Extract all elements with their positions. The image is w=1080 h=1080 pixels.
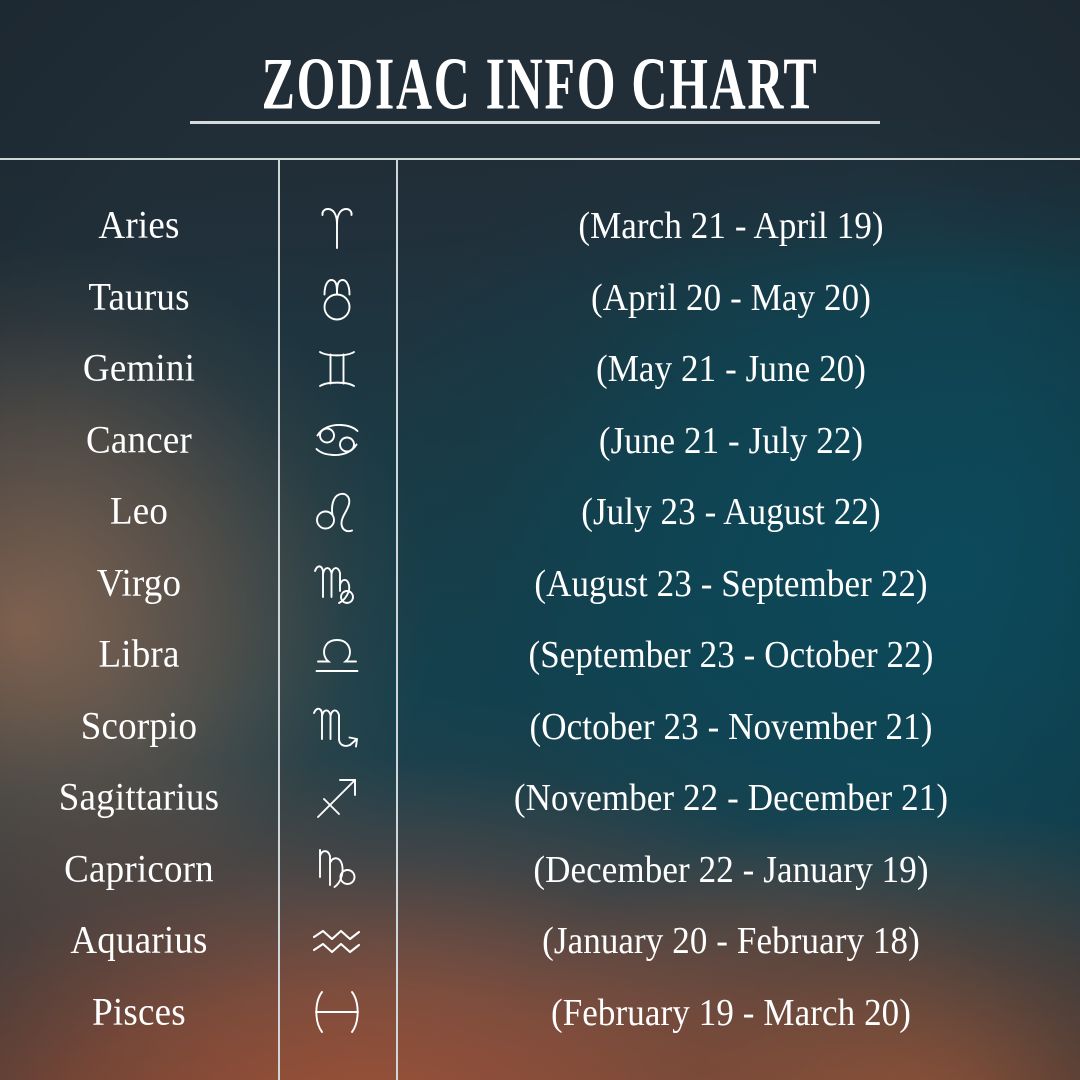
table-vertical-divider-left <box>278 160 280 1080</box>
table-top-divider <box>0 158 1080 160</box>
table-vertical-divider-right <box>396 160 398 1080</box>
zodiac-sign-name: Scorpio <box>0 707 278 746</box>
zodiac-info-chart-poster: ZODIAC INFO CHART Aries (March 21 - Apri… <box>0 0 1080 1080</box>
zodiac-date-range: (November 22 - December 21) <box>396 779 1080 818</box>
zodiac-sign-name: Aquarius <box>0 921 278 960</box>
virgo-symbol <box>278 555 396 611</box>
zodiac-date-range: (April 20 - May 20) <box>396 278 1080 317</box>
table-row: Pisces (February 19 - March 20) <box>0 977 1080 1049</box>
table-row: Aries (March 21 - April 19) <box>0 190 1080 262</box>
table-row: Aquarius (January 20 - February 18) <box>0 905 1080 977</box>
table-row: Leo (July 23 - August 22) <box>0 476 1080 548</box>
title-underline-rule <box>190 121 880 124</box>
taurus-symbol <box>278 269 396 325</box>
table-row: Sagittarius (November 22 - December 21) <box>0 762 1080 834</box>
page-title: ZODIAC INFO CHART <box>76 47 1005 121</box>
zodiac-date-range: (February 19 - March 20) <box>396 993 1080 1032</box>
zodiac-sign-name: Virgo <box>0 564 278 603</box>
table-row: Virgo (August 23 - September 22) <box>0 548 1080 620</box>
zodiac-sign-name: Capricorn <box>0 850 278 889</box>
pisces-symbol <box>278 984 396 1040</box>
zodiac-date-range: (July 23 - August 22) <box>396 493 1080 532</box>
zodiac-date-range: (August 23 - September 22) <box>396 564 1080 603</box>
aquarius-symbol <box>278 913 396 969</box>
table-row: Scorpio (October 23 - November 21) <box>0 691 1080 763</box>
cancer-symbol <box>278 412 396 468</box>
zodiac-sign-name: Leo <box>0 492 278 531</box>
zodiac-sign-name: Taurus <box>0 278 278 317</box>
table-row: Capricorn (December 22 - January 19) <box>0 834 1080 906</box>
zodiac-sign-name: Sagittarius <box>0 778 278 817</box>
zodiac-table: Aries (March 21 - April 19) Taurus (Apri… <box>0 160 1080 1080</box>
zodiac-date-range: (September 23 - October 22) <box>396 636 1080 675</box>
zodiac-date-range: (March 21 - April 19) <box>396 207 1080 246</box>
table-row: Taurus (April 20 - May 20) <box>0 262 1080 334</box>
table-row: Libra (September 23 - October 22) <box>0 619 1080 691</box>
zodiac-sign-name: Libra <box>0 635 278 674</box>
table-row: Cancer (June 21 - July 22) <box>0 405 1080 477</box>
scorpio-symbol <box>278 698 396 754</box>
sagittarius-symbol <box>278 770 396 826</box>
zodiac-sign-name: Pisces <box>0 993 278 1032</box>
zodiac-sign-name: Cancer <box>0 421 278 460</box>
poster-header: ZODIAC INFO CHART <box>0 0 1080 158</box>
zodiac-sign-name: Gemini <box>0 349 278 388</box>
zodiac-date-range: (May 21 - June 20) <box>396 350 1080 389</box>
table-row: Gemini (May 21 - June 20) <box>0 333 1080 405</box>
libra-symbol <box>278 627 396 683</box>
leo-symbol <box>278 484 396 540</box>
zodiac-date-range: (January 20 - February 18) <box>396 922 1080 961</box>
capricorn-symbol <box>278 841 396 897</box>
zodiac-date-range: (June 21 - July 22) <box>396 421 1080 460</box>
aries-symbol <box>278 198 396 254</box>
zodiac-date-range: (October 23 - November 21) <box>396 707 1080 746</box>
zodiac-sign-name: Aries <box>0 206 278 245</box>
zodiac-date-range: (December 22 - January 19) <box>396 850 1080 889</box>
gemini-symbol <box>278 341 396 397</box>
